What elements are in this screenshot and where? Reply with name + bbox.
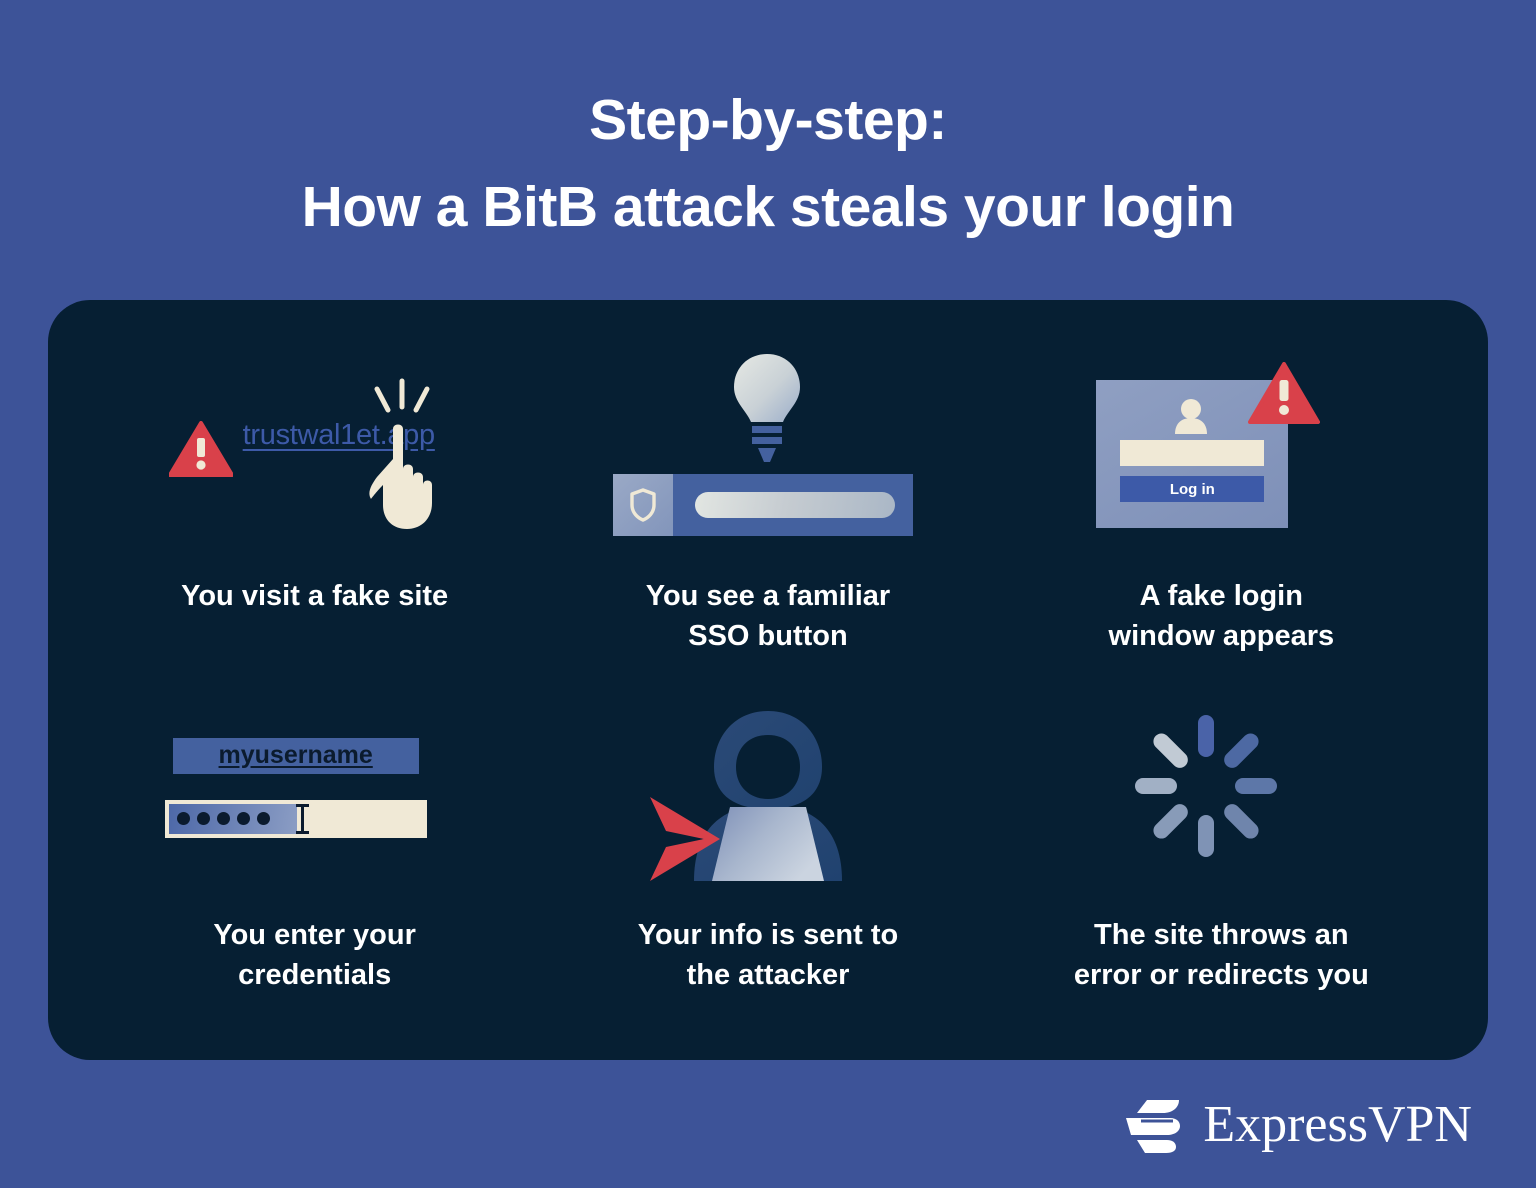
password-dot [197,812,210,825]
step-item-1: trustwal1et.app You visit a fake site [88,346,541,685]
sso-text-bar [695,492,895,518]
loading-spinner-icon [1131,711,1281,861]
password-selection-highlight [169,804,297,834]
step-6-artwork [995,685,1448,897]
password-field[interactable] [165,800,427,838]
steps-card: trustwal1et.app You visit a fake site [48,300,1488,1060]
step-3-caption: A fake login window appears [1109,576,1335,656]
step-1-caption: You visit a fake site [181,576,448,616]
sso-label-placeholder [673,474,913,536]
password-dot [237,812,250,825]
fake-login-button[interactable]: Log in [1120,476,1264,502]
step-2-caption: You see a familiar SSO button [646,576,890,656]
brand-logo: ExpressVPN [1123,1094,1472,1156]
step-6-caption: The site throws an error or redirects yo… [1074,915,1369,995]
step-5-caption: Your info is sent to the attacker [638,915,898,995]
step-item-5: Your info is sent to the attacker [541,685,994,1024]
step-item-4: myusername You enter your crede [88,685,541,1024]
warning-triangle-icon [1248,362,1320,424]
step-item-6: The site throws an error or redirects yo… [995,685,1448,1024]
hooded-hacker-laptop-icon [648,701,888,881]
step-4-artwork: myusername [88,685,541,897]
title-line-1: Step-by-step: [0,92,1536,149]
page-title: Step-by-step: How a BitB attack steals y… [0,0,1536,236]
step-item-3: Log in A fake login window appears [995,346,1448,685]
steps-grid: trustwal1et.app You visit a fake site [48,300,1488,1060]
password-dot [177,812,190,825]
user-avatar-icon [1172,398,1210,434]
pointer-hand-cursor-icon [357,367,447,532]
lightbulb-icon [728,352,806,468]
username-field[interactable]: myusername [173,738,419,774]
title-line-2: How a BitB attack steals your login [0,179,1536,236]
sso-shield-container [613,474,673,536]
warning-triangle-icon [169,421,233,477]
step-1-artwork: trustwal1et.app [88,346,541,558]
brand-name: ExpressVPN [1203,1099,1472,1151]
fake-login-input[interactable] [1120,440,1264,466]
expressvpn-e-mark-icon [1123,1094,1185,1156]
password-dot [257,812,270,825]
step-5-artwork [541,685,994,897]
shield-icon [629,488,657,522]
step-2-artwork [541,346,994,558]
username-value: myusername [219,741,373,770]
step-4-caption: You enter your credentials [213,915,416,995]
sso-button[interactable] [613,474,913,536]
password-dot [217,812,230,825]
text-cursor-icon [301,804,304,834]
step-3-artwork: Log in [995,346,1448,558]
step-item-2: You see a familiar SSO button [541,346,994,685]
